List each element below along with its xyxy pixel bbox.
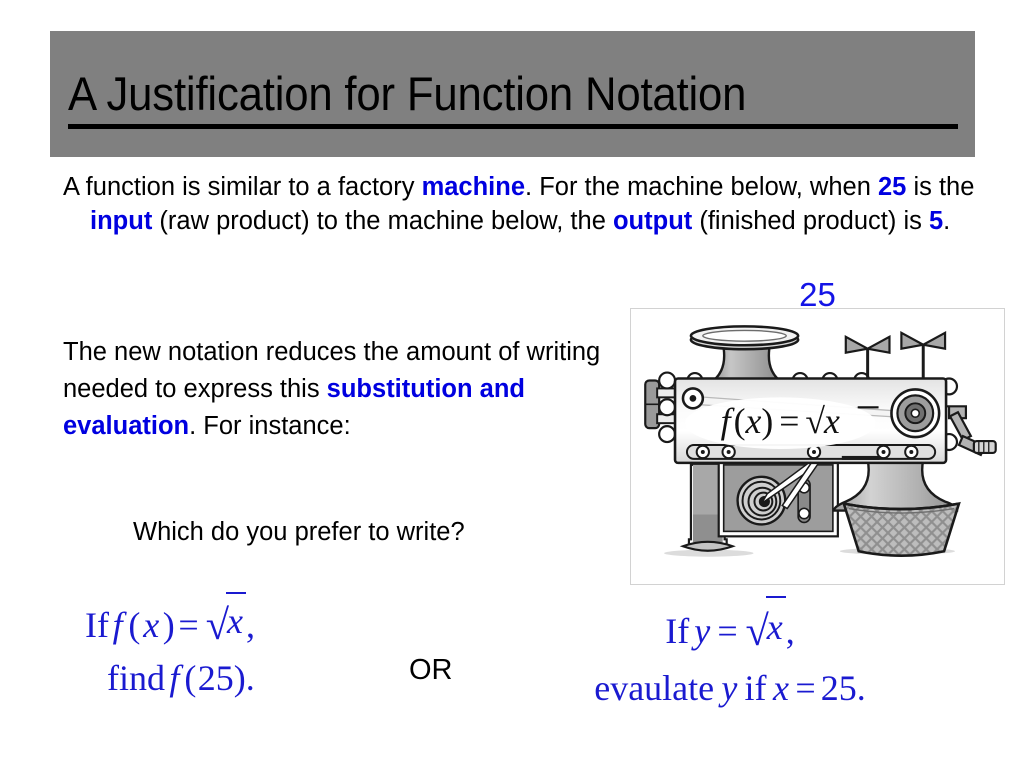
eq-left-equals: = bbox=[178, 599, 198, 651]
eq-right-comma: , bbox=[786, 611, 795, 651]
or-separator-label: OR bbox=[409, 653, 453, 687]
machine-image-frame: f(x)=√x bbox=[630, 308, 1005, 585]
intro-text-3: is the bbox=[906, 173, 974, 201]
output-pedestal bbox=[834, 460, 957, 511]
intro-text-4: (raw product) to the machine below, the bbox=[152, 207, 613, 235]
title-underline bbox=[68, 124, 958, 129]
eq-right-var-y-2: y bbox=[721, 660, 737, 716]
prompt-question: Which do you prefer to write? bbox=[133, 516, 465, 548]
eq-right-sqrt: √x bbox=[743, 600, 785, 660]
eq-right-if: If bbox=[665, 603, 689, 659]
eq-left-arg: 25 bbox=[198, 658, 234, 698]
keyword-output: output bbox=[613, 207, 692, 235]
eq-right-value: 25 bbox=[821, 668, 857, 708]
eq-right-var-y: y bbox=[694, 603, 710, 659]
input-hopper bbox=[691, 326, 798, 382]
intro-text-1: A function is similar to a factory bbox=[63, 173, 422, 201]
eq-right-equals: = bbox=[717, 603, 737, 659]
eq-left-radicand: x bbox=[226, 592, 246, 647]
eq-left-close-paren: ) bbox=[163, 605, 175, 645]
equation-left-line-1: Iff(x)=√x, bbox=[85, 596, 415, 652]
keyword-output-value: 5 bbox=[929, 207, 943, 235]
intro-text-6: . bbox=[943, 207, 950, 235]
eq-right-radicand: x bbox=[766, 596, 786, 655]
eq-left-open-paren: ( bbox=[128, 599, 140, 651]
title-banner: A Justification for Function Notation bbox=[50, 31, 975, 157]
eq-left-period: . bbox=[246, 658, 255, 698]
keyword-input-value: 25 bbox=[878, 173, 906, 201]
factory-machine-illustration: f(x)=√x bbox=[631, 309, 1004, 584]
eq-right-verb: evaulate bbox=[594, 660, 714, 716]
valve-handles bbox=[846, 333, 945, 379]
equation-right-line-2: evaulateyifx=25. bbox=[500, 660, 960, 716]
eq-left-var: x bbox=[143, 599, 159, 651]
eq-right-var-x: x bbox=[773, 660, 789, 716]
eq-right-period: . bbox=[857, 668, 866, 708]
equation-y-notation: Ify=√x, evaulateyifx=25. bbox=[500, 600, 960, 716]
machine-formula-text: f(x)=√x bbox=[721, 401, 840, 441]
equation-right-line-1: Ify=√x, bbox=[500, 600, 960, 660]
notation-text-2: . For instance: bbox=[189, 412, 351, 440]
main-pulley-icon bbox=[891, 389, 939, 437]
keyword-input: input bbox=[90, 207, 152, 235]
intro-text-2: . For the machine below, when bbox=[525, 173, 878, 201]
eq-right-equals-2: = bbox=[795, 660, 815, 716]
eq-left-close-paren-2: ) bbox=[234, 658, 246, 698]
intro-paragraph: A function is similar to a factory machi… bbox=[63, 170, 990, 238]
spiral-pulley-icon bbox=[738, 477, 786, 525]
notation-paragraph: The new notation reduces the amount of w… bbox=[63, 334, 623, 445]
output-basket bbox=[844, 504, 959, 556]
eq-left-open-paren-2: ( bbox=[184, 652, 196, 704]
equation-left-line-2: findf(25). bbox=[85, 652, 415, 704]
intro-text-5: (finished product) is bbox=[692, 207, 929, 235]
eq-left-sqrt: √x bbox=[204, 596, 246, 652]
machine-body: f(x)=√x bbox=[675, 378, 946, 462]
machine-input-label: 25 bbox=[630, 278, 1005, 311]
keyword-machine: machine bbox=[422, 173, 525, 201]
eq-left-find: find bbox=[107, 652, 165, 704]
equation-function-notation: Iff(x)=√x, findf(25). bbox=[85, 596, 415, 704]
eq-left-fn-2: f bbox=[169, 652, 179, 704]
eq-left-fn: f bbox=[113, 599, 123, 651]
eq-right-if-2: if bbox=[745, 660, 767, 716]
page-title: A Justification for Function Notation bbox=[68, 67, 900, 121]
gear-panel bbox=[719, 460, 838, 536]
eq-left-comma: , bbox=[246, 605, 255, 645]
eq-left-if: If bbox=[85, 599, 109, 651]
